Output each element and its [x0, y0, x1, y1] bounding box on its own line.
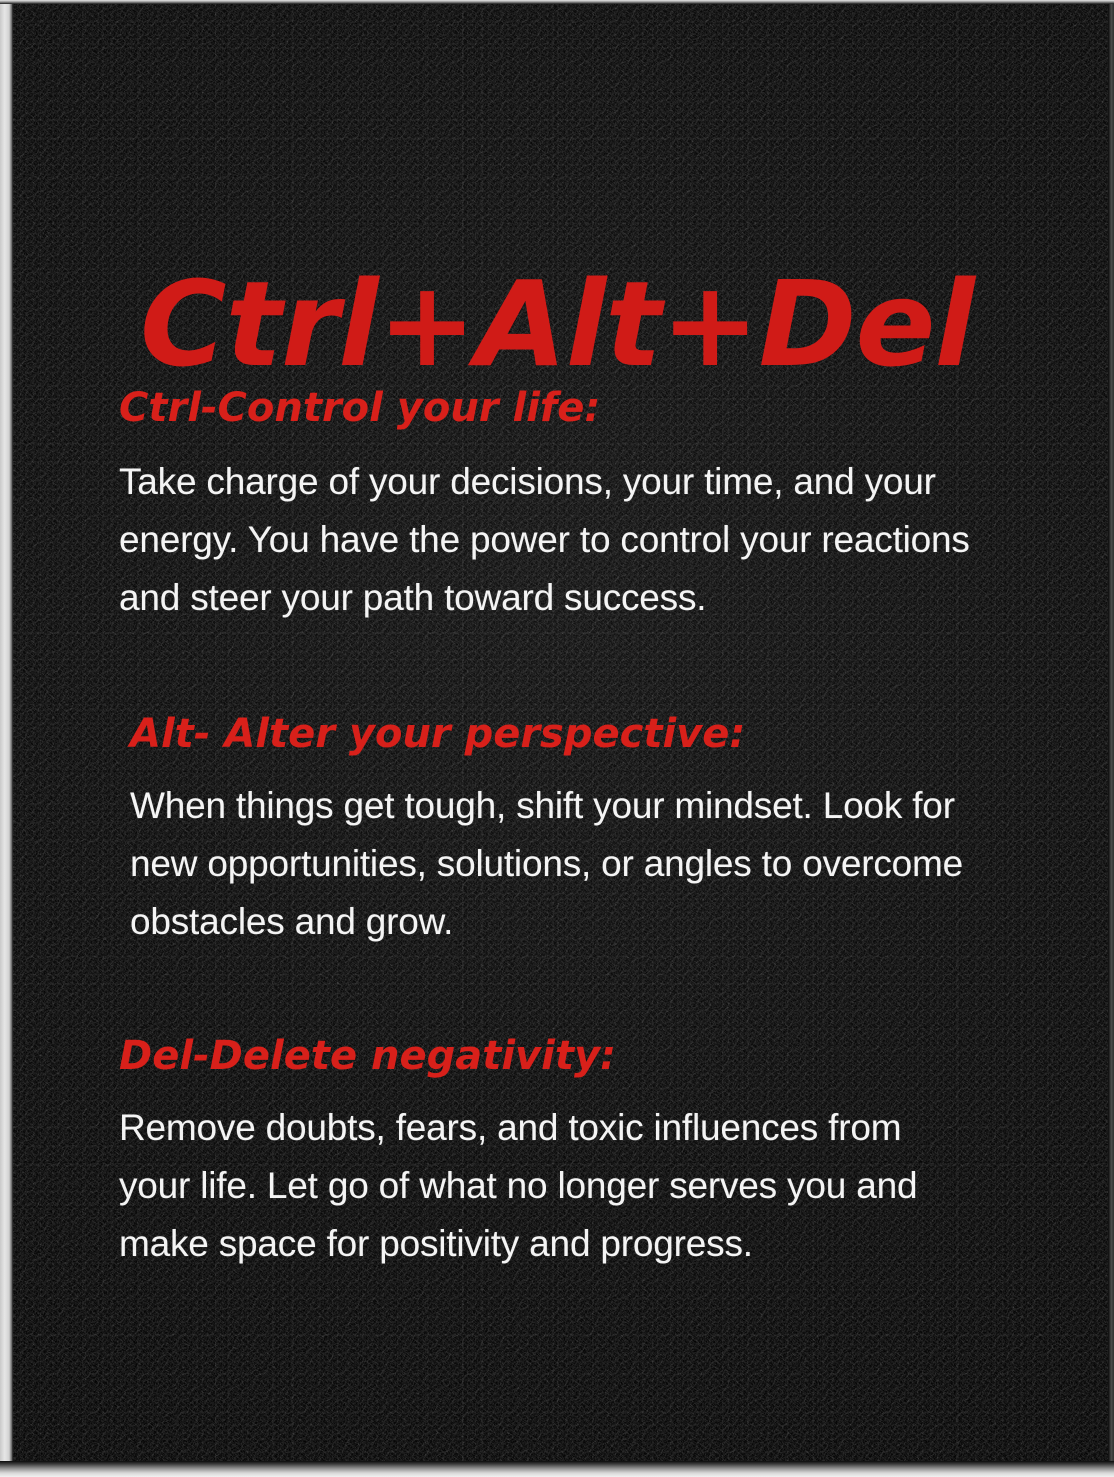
- canvas-edge-top: [0, 0, 1114, 4]
- canvas-edge-left: [0, 0, 13, 1477]
- section-del: Del-Delete negativity: Remove doubts, fe…: [119, 1034, 999, 1273]
- section-alt: Alt- Alter your perspective: When things…: [130, 712, 1010, 951]
- section-del-body: Remove doubts, fears, and toxic influenc…: [119, 1099, 979, 1273]
- poster-content: Ctrl+Alt+Del Ctrl-Control your life: Tak…: [0, 0, 1114, 1477]
- poster-title: Ctrl+Alt+Del: [0, 263, 1114, 387]
- section-del-heading: Del-Delete negativity:: [119, 1034, 999, 1079]
- section-ctrl: Ctrl-Control your life: Take charge of y…: [119, 386, 999, 627]
- section-ctrl-body: Take charge of your decisions, your time…: [119, 453, 979, 627]
- canvas-edge-bottom: [0, 1461, 1114, 1477]
- canvas-edge-right: [1108, 0, 1114, 1477]
- section-alt-heading: Alt- Alter your perspective:: [130, 712, 1010, 757]
- poster-canvas: Ctrl+Alt+Del Ctrl-Control your life: Tak…: [0, 0, 1114, 1477]
- section-alt-body: When things get tough, shift your mindse…: [130, 777, 970, 951]
- section-ctrl-heading: Ctrl-Control your life:: [119, 386, 999, 431]
